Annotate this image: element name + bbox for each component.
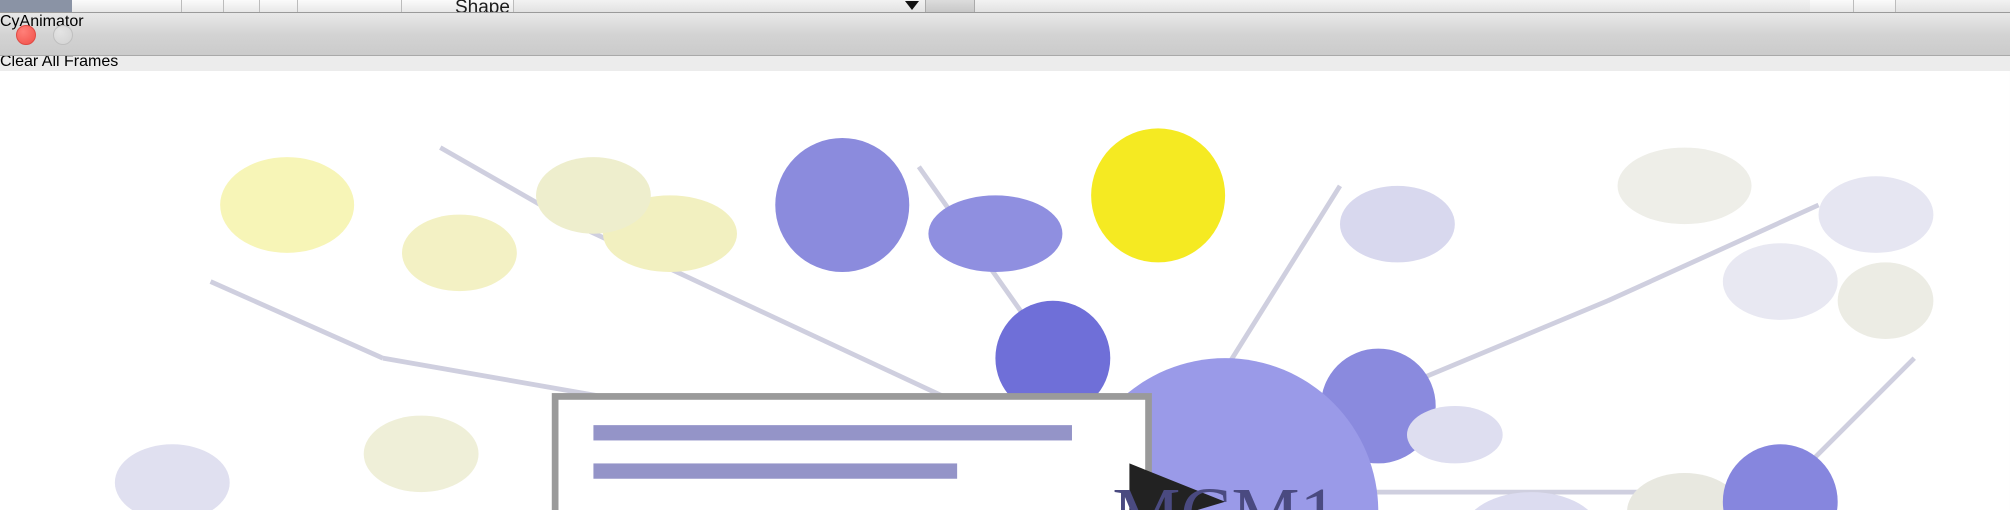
background-strip-segment bbox=[260, 0, 298, 13]
background-strip-segment bbox=[298, 0, 402, 13]
background-window-strip: Shape bbox=[0, 0, 2010, 13]
maximize-button[interactable] bbox=[0, 25, 20, 45]
minimize-button[interactable] bbox=[53, 25, 73, 45]
network-graph-thumbnail: MCM1 bbox=[0, 71, 2010, 510]
background-slider bbox=[925, 0, 975, 13]
background-strip-segment bbox=[224, 0, 260, 13]
window-title: CyAnimator bbox=[0, 13, 2010, 31]
background-strip-segment bbox=[182, 0, 224, 13]
timeline-panel[interactable]: MCM1 bbox=[0, 71, 2010, 510]
window-titlebar: CyAnimator bbox=[0, 13, 2010, 56]
background-window-titlebar bbox=[0, 0, 72, 13]
background-window-label: Shape bbox=[455, 0, 510, 13]
svg-text:MCM1: MCM1 bbox=[1112, 472, 1338, 510]
background-strip-segment bbox=[1810, 0, 1854, 13]
timeline-frame-thumbnail[interactable]: MCM1 bbox=[0, 71, 2010, 510]
background-caret-icon bbox=[905, 1, 919, 10]
background-strip-segment bbox=[1854, 0, 1896, 13]
background-strip-segment bbox=[72, 0, 182, 13]
